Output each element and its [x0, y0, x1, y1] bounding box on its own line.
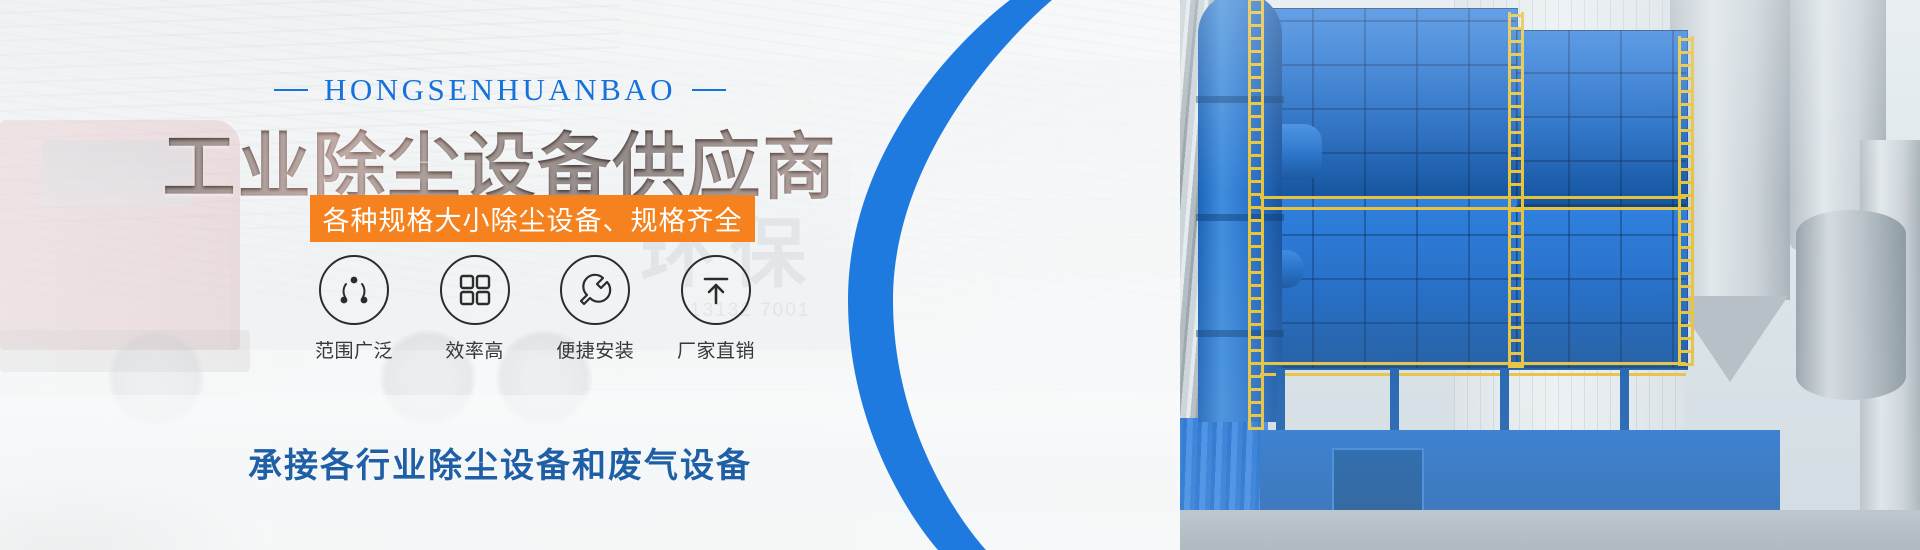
baghouse-grid-mid-right — [1516, 206, 1686, 368]
feature-label: 效率高 — [421, 336, 529, 363]
feature-list: 范围广泛 效率高 — [300, 255, 770, 363]
yellow-ladder-mid — [1508, 12, 1524, 368]
support-leg-1 — [1276, 368, 1285, 438]
grid-squares-icon — [440, 255, 510, 325]
yellow-walkway-rail-upper — [1260, 196, 1686, 210]
eyebrow-text: HONGSENHUANBAO — [324, 72, 676, 107]
tagline-text: 承接各行业除尘设备和废气设备 — [0, 438, 1000, 487]
feature-label: 便捷安装 — [541, 336, 649, 363]
feature-item-installation[interactable]: 便捷安装 — [541, 255, 649, 363]
chimney-band-3 — [1196, 330, 1284, 337]
baghouse-grid-top-right — [1516, 30, 1686, 206]
dash-right-icon — [692, 89, 726, 91]
eyebrow-pinyin: HONGSENHUANBAO — [0, 72, 1000, 108]
share-nodes-icon — [319, 255, 389, 325]
support-leg-4 — [1620, 368, 1629, 438]
feature-label: 范围广泛 — [300, 336, 408, 363]
support-leg-3 — [1500, 368, 1509, 438]
chimney-band-2 — [1196, 214, 1284, 221]
upload-arrow-icon — [681, 255, 751, 325]
subtitle-orange-bar: 各种规格大小除尘设备、规格齐全 — [310, 195, 755, 242]
blue-chimney-stack — [1198, 0, 1282, 422]
feature-item-direct-sales[interactable]: 厂家直销 — [662, 255, 770, 363]
support-leg-2 — [1390, 368, 1399, 438]
banner-content: HONGSENHUANBAO 工业除尘设备供应商 各种规格大小除尘设备、规格齐全… — [0, 0, 1000, 550]
wrench-icon — [560, 255, 630, 325]
promotional-banner: 环保 13132 7001 HONGSENHUANBAO 工业除尘设备供应商 各… — [0, 0, 1920, 550]
chimney-band-1 — [1196, 96, 1284, 103]
feature-item-range[interactable]: 范围广泛 — [300, 255, 408, 363]
horizontal-tank — [1796, 210, 1906, 400]
feature-item-efficiency[interactable]: 效率高 — [421, 255, 529, 363]
dash-left-icon — [274, 89, 308, 91]
subtitle-text: 各种规格大小除尘设备、规格齐全 — [323, 199, 743, 238]
feature-label: 厂家直销 — [662, 336, 770, 363]
